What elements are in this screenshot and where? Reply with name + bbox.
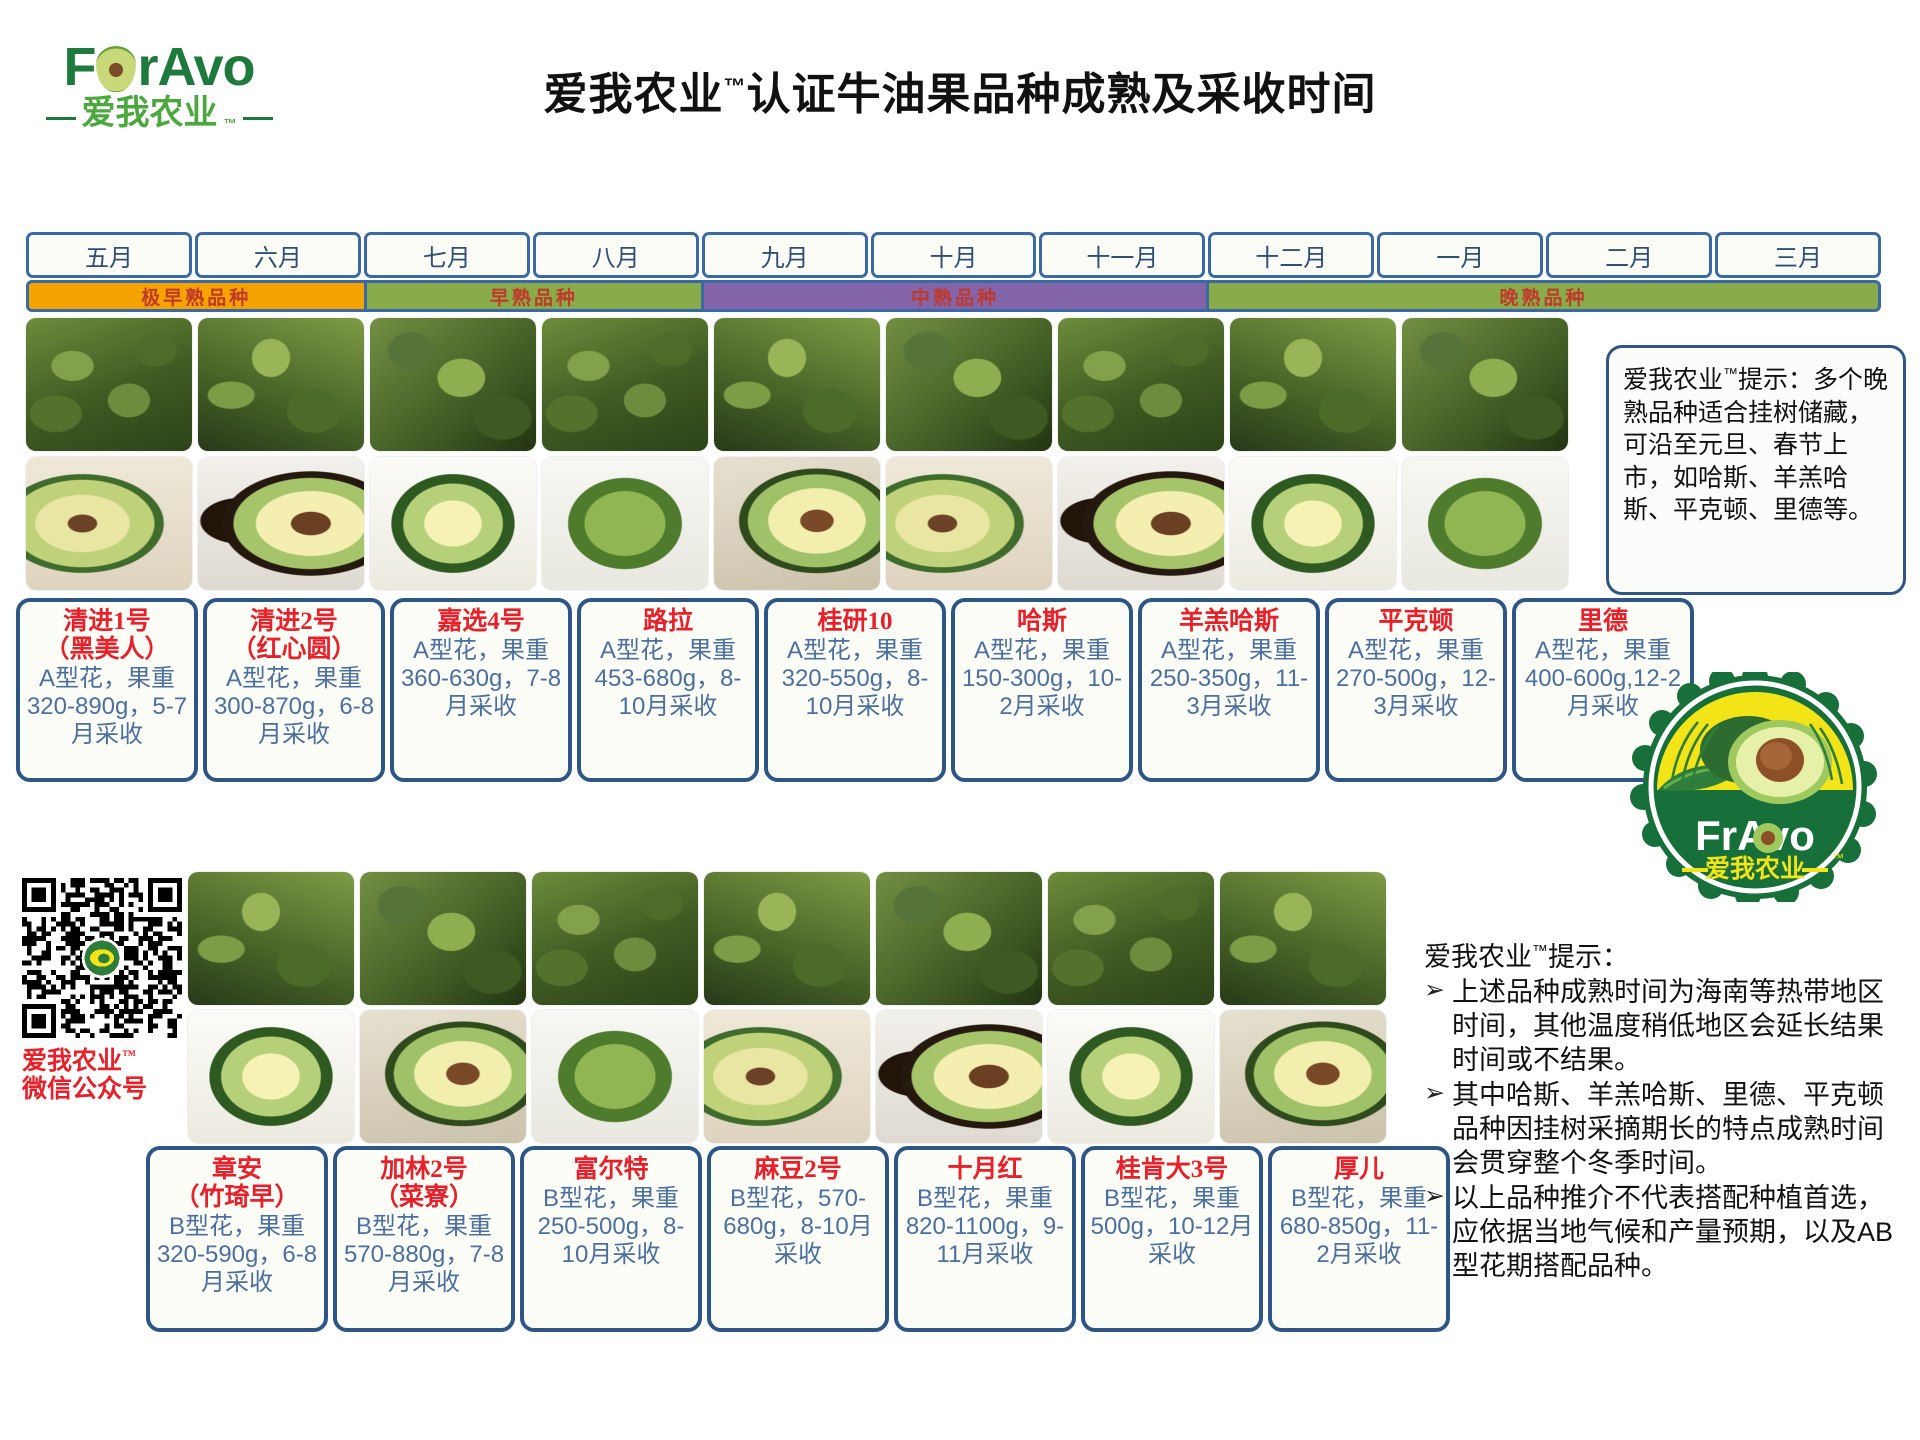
badge-o-pit-icon [1761,831,1775,845]
month-cell-3: 七月 [364,232,530,278]
tree-photo-4 [542,318,708,451]
variety-card-row-a: 清进1号（黑美人）A型花，果重320-890g，5-7月采收清进2号（红心圆）A… [16,598,1694,782]
brand-wordmark-pre: F [63,40,95,94]
season-band-1: 极早熟品种 [29,283,364,309]
variety-alias: （红心圆） [231,636,356,664]
tree-photo-9 [1402,318,1568,451]
brand-tm: ™ [224,117,237,130]
month-header-row: 五月六月七月八月九月十月十一月十二月一月二月三月 [26,232,1881,278]
qr-caption-line2: 微信公众号 [22,1076,192,1104]
variety-name: 桂研10 [817,608,892,636]
variety-description: B型花，果重500g，10-12月采收 [1090,1185,1254,1269]
brand-logo: F rAvo 爱我农业 ™ [24,30,294,140]
infographic-page: F rAvo 爱我农业 ™ 爱我农业™认证牛油果品种成熟及采收时间 五月六月七月… [0,0,1920,1440]
variety-name: 清进1号 [63,608,151,636]
variety-description: A型花，果重320-550g，8-10月采收 [773,637,937,721]
notes-title-tm: ™ [1532,943,1548,960]
fruit-photo-b-3 [532,1010,698,1143]
qr-logo-avocado-icon [98,954,110,964]
season-band-4: 晚熟品种 [1209,283,1878,309]
variety-name: 加林2号 [380,1156,468,1184]
note-text: 上述品种成熟时间为海南等热带地区时间，其他温度稍低地区会延长结果时间或不结果。 [1452,975,1908,1077]
season-band-2: 早熟品种 [367,283,702,309]
variety-name: 十月红 [947,1156,1022,1184]
tip-title-post: 提示： [1738,366,1813,394]
variety-description: B型花，果重680-850g，11-2月采收 [1277,1185,1441,1269]
month-cell-7: 十一月 [1039,232,1205,278]
note-item-1: ➢上述品种成熟时间为海南等热带地区时间，其他温度稍低地区会延长结果时间或不结果。 [1424,975,1908,1077]
season-band-3: 中熟品种 [704,283,1206,309]
fruit-photo-b-1 [188,1010,354,1143]
month-cell-2: 六月 [195,232,361,278]
tip-callout-top: 爱我农业™提示：多个晚熟品种适合挂树储藏，可沿至元旦、春节上市，如哈斯、羊羔哈斯… [1606,345,1906,595]
variety-description: A型花，果重270-500g，12-3月采收 [1334,637,1498,721]
month-cell-11: 三月 [1715,232,1881,278]
fruit-photo-row-top [26,457,1568,590]
notes-title-pre: 爱我农业 [1424,942,1532,972]
page-title-post: 认证牛油果品种成熟及采收时间 [747,70,1377,119]
note-bullet-icon: ➢ [1424,1078,1445,1110]
badge-tm: ™ [1832,851,1844,865]
variety-card-a-2[interactable]: 清进2号（红心圆）A型花，果重300-870g，6-8月采收 [203,598,385,782]
page-title-tm: ™ [724,73,747,98]
variety-card-b-2[interactable]: 加林2号（菜寮）B型花，果重570-880g，7-8月采收 [333,1146,515,1332]
tree-photo-2 [198,318,364,451]
tree-photo-b-3 [532,872,698,1005]
variety-card-row-b: 章安（竹琦早）B型花，果重320-590g，6-8月采收加林2号（菜寮）B型花，… [146,1146,1450,1332]
variety-description: B型花，果重820-1100g，9-11月采收 [903,1185,1067,1269]
variety-alias: （竹琦早） [174,1184,299,1212]
qr-caption-line1-text: 爱我农业 [22,1048,122,1075]
tree-photo-7 [1058,318,1224,451]
brand-wordmark-post: rAvo [137,40,254,94]
variety-name: 厚儿 [1334,1156,1384,1184]
month-cell-6: 十月 [871,232,1037,278]
variety-description: A型花，果重453-680g，8-10月采收 [586,637,750,721]
variety-description: B型花，果重320-590g，6-8月采收 [155,1213,319,1297]
variety-description: B型花，570-680g，8-10月采收 [716,1185,880,1269]
tip-title-tm: ™ [1723,366,1738,383]
notes-block: 爱我农业™提示： ➢上述品种成熟时间为海南等热带地区时间，其他温度稍低地区会延长… [1424,940,1908,1284]
brand-cn-text: 爱我农业 [82,96,218,130]
tree-photo-5 [714,318,880,451]
tree-photo-b-5 [876,872,1042,1005]
variety-card-b-6[interactable]: 桂肯大3号B型花，果重500g，10-12月采收 [1081,1146,1263,1332]
notes-title: 爱我农业™提示： [1424,940,1908,974]
tree-photo-8 [1230,318,1396,451]
variety-name: 嘉选4号 [437,608,525,636]
variety-description: A型花，果重360-630g，7-8月采收 [399,637,563,721]
badge-svg: FrAvo 爱我农业 ™ [1630,672,1880,902]
month-cell-10: 二月 [1546,232,1712,278]
badge-cn-name: 爱我农业 [1705,855,1805,883]
fruit-photo-9 [1402,457,1568,590]
variety-description: A型花，果重300-870g，6-8月采收 [212,665,376,749]
tree-photo-3 [370,318,536,451]
qr-code-image [22,878,182,1038]
variety-alias: （菜寮） [374,1184,474,1212]
note-text: 以上品种推介不代表搭配种植首选，应依据当地气候和产量预期，以及AB型花期搭配品种… [1452,1181,1908,1283]
variety-name: 路拉 [643,608,693,636]
variety-card-a-5[interactable]: 桂研10A型花，果重320-550g，8-10月采收 [764,598,946,782]
variety-name: 清进2号 [250,608,338,636]
fruit-photo-3 [370,457,536,590]
fruit-photo-b-5 [876,1010,1042,1143]
month-cell-4: 八月 [533,232,699,278]
fruit-photo-b-6 [1048,1010,1214,1143]
fruit-photo-1 [26,457,192,590]
fruit-photo-5 [714,457,880,590]
fruit-photo-b-4 [704,1010,870,1143]
foravo-round-badge: FrAvo 爱我农业 ™ [1630,672,1880,902]
variety-description: A型花，果重150-300g，10-2月采收 [960,637,1124,721]
brand-wordmark: F rAvo [63,40,254,94]
variety-name: 麻豆2号 [754,1156,842,1184]
qr-caption-tm: ™ [122,1049,136,1064]
tree-photo-6 [886,318,1052,451]
variety-name: 平克顿 [1378,608,1453,636]
fruit-photo-row-bottom [188,1010,1386,1143]
fruit-photo-7 [1058,457,1224,590]
tree-photo-row-bottom [188,872,1386,1005]
variety-card-a-3[interactable]: 嘉选4号A型花，果重360-630g，7-8月采收 [390,598,572,782]
variety-name: 桂肯大3号 [1116,1156,1229,1184]
variety-card-a-8[interactable]: 平克顿A型花，果重270-500g，12-3月采收 [1325,598,1507,782]
qr-caption: 爱我农业™ 微信公众号 [22,1048,192,1104]
qr-code-svg [22,878,182,1038]
fruit-photo-4 [542,457,708,590]
tree-photo-1 [26,318,192,451]
page-title-pre: 爱我农业 [544,70,724,119]
tree-photo-row-top [26,318,1568,451]
fruit-photo-6 [886,457,1052,590]
avocado-o-icon [96,46,136,92]
month-cell-8: 十二月 [1208,232,1374,278]
month-cell-1: 五月 [26,232,192,278]
note-bullet-icon: ➢ [1424,1181,1445,1213]
tree-photo-b-4 [704,872,870,1005]
variety-name: 哈斯 [1017,608,1067,636]
variety-name: 富尔特 [573,1156,648,1184]
variety-alias: （黑美人） [44,636,169,664]
variety-card-a-1[interactable]: 清进1号（黑美人）A型花，果重320-890g，5-7月采收 [16,598,198,782]
brand-rule-left [46,117,76,120]
variety-card-b-5[interactable]: 十月红B型花，果重820-1100g，9-11月采收 [894,1146,1076,1332]
tree-photo-b-7 [1220,872,1386,1005]
variety-name: 羊羔哈斯 [1179,608,1279,636]
notes-list: ➢上述品种成熟时间为海南等热带地区时间，其他温度稍低地区会延长结果时间或不结果。… [1424,975,1908,1283]
badge-wordmark-pre: F [1695,812,1721,859]
qr-caption-line1: 爱我农业™ [22,1048,192,1076]
variety-description: A型花，果重320-890g，5-7月采收 [25,665,189,749]
variety-description: A型花，果重250-350g，11-3月采收 [1147,637,1311,721]
tree-photo-b-6 [1048,872,1214,1005]
fruit-photo-b-7 [1220,1010,1386,1143]
variety-card-b-1[interactable]: 章安（竹琦早）B型花，果重320-590g，6-8月采收 [146,1146,328,1332]
variety-name: 里德 [1578,608,1628,636]
fruit-photo-8 [1230,457,1396,590]
brand-rule-right [243,117,273,120]
wechat-qr-block: 爱我农业™ 微信公众号 [22,878,192,1104]
fruit-photo-b-2 [360,1010,526,1143]
month-cell-9: 一月 [1377,232,1543,278]
variety-card-a-7[interactable]: 羊羔哈斯A型花，果重250-350g，11-3月采收 [1138,598,1320,782]
variety-card-b-3[interactable]: 富尔特B型花，果重250-500g，8-10月采收 [520,1146,702,1332]
note-item-2: ➢其中哈斯、羊羔哈斯、里德、平克顿品种因挂树采摘期长的特点成熟时间会贯穿整个冬季… [1424,1078,1908,1180]
tree-photo-b-1 [188,872,354,1005]
season-band-row: 极早熟品种早熟品种中熟品种晚熟品种 [26,280,1881,312]
tip-title-pre: 爱我农业 [1623,366,1723,394]
brand-chinese-name: 爱我农业 ™ [46,96,273,130]
note-item-3: ➢以上品种推介不代表搭配种植首选，应依据当地气候和产量预期，以及AB型花期搭配品… [1424,1181,1908,1283]
tree-photo-b-2 [360,872,526,1005]
notes-title-post: 提示： [1548,942,1629,972]
note-text: 其中哈斯、羊羔哈斯、里德、平克顿品种因挂树采摘期长的特点成熟时间会贯穿整个冬季时… [1452,1078,1908,1180]
variety-card-b-7[interactable]: 厚儿B型花，果重680-850g，11-2月采收 [1268,1146,1450,1332]
fruit-photo-2 [198,457,364,590]
variety-card-a-6[interactable]: 哈斯A型花，果重150-300g，10-2月采收 [951,598,1133,782]
month-cell-5: 九月 [702,232,868,278]
variety-description: B型花，果重570-880g，7-8月采收 [342,1213,506,1297]
note-bullet-icon: ➢ [1424,975,1445,1007]
variety-description: B型花，果重250-500g，8-10月采收 [529,1185,693,1269]
variety-card-a-4[interactable]: 路拉A型花，果重453-680g，8-10月采收 [577,598,759,782]
page-title: 爱我农业™认证牛油果品种成熟及采收时间 [380,58,1540,122]
variety-card-b-4[interactable]: 麻豆2号B型花，570-680g，8-10月采收 [707,1146,889,1332]
variety-name: 章安 [212,1156,262,1184]
